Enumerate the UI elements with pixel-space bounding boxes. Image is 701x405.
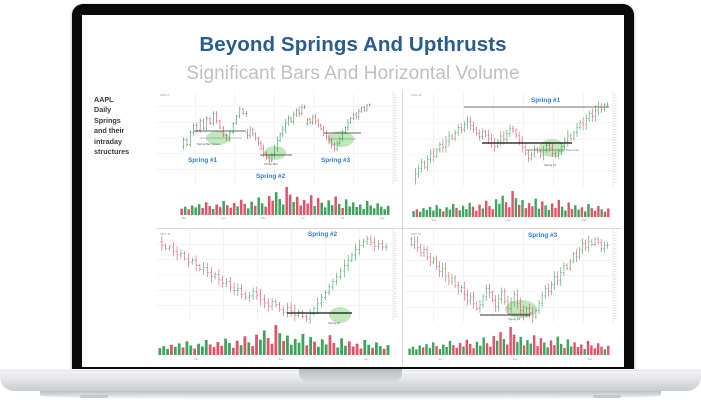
spring-label-3: Spring #3 <box>321 157 350 164</box>
sidenote-line: Springs <box>94 116 152 126</box>
spring-label-2: Spring #2 <box>256 173 285 180</box>
annotation-spring: Spring #3 <box>508 317 520 321</box>
base-shadow <box>40 391 661 400</box>
chart-panel-top-right[interactable]: MarAprMay AAPL:15 Spring #1 Test / Low S… <box>404 91 622 227</box>
svg-text:Apr: Apr <box>507 218 511 222</box>
sidenote-line: and their <box>94 126 152 136</box>
presentation-slide: Beyond Springs And Upthrusts Significant… <box>82 15 624 367</box>
base-foot-right <box>593 395 621 398</box>
svg-text:May: May <box>582 218 588 222</box>
sidenote-text: AAPL Daily Springs and their intraday st… <box>94 95 152 157</box>
laptop-screen: Beyond Springs And Upthrusts Significant… <box>82 15 624 367</box>
svg-text:Aug: Aug <box>380 216 385 220</box>
spring-label-1: Spring #1 <box>531 97 560 104</box>
chart-panel-bottom-right[interactable]: JulAugSep AAPL:15 Spring #3 Spring #3 <box>404 229 622 365</box>
ticker-tag: AAPL:15 <box>160 233 170 236</box>
svg-text:Mar: Mar <box>182 216 187 220</box>
svg-text:May: May <box>194 357 200 361</box>
laptop-base <box>0 369 701 405</box>
annotation-spring: Spring #1 <box>544 163 556 167</box>
page-subtitle: Significant Bars And Horizontal Volume <box>82 63 624 85</box>
spring-label-3: Spring #3 <box>528 232 557 239</box>
svg-text:Jun: Jun <box>279 357 284 361</box>
candlestick-chart-bottom-right: JulAugSep <box>404 229 622 365</box>
laptop-lid: Beyond Springs And Upthrusts Significant… <box>72 4 634 373</box>
svg-text:Apr: Apr <box>222 216 226 220</box>
panel-divider-horizontal <box>156 228 622 229</box>
chart-panel-top-left[interactable]: MarAprMayJunJulAug AAPL:D Spring #1 Spri… <box>156 91 402 227</box>
annotation-test-low: Test / Low <box>566 148 579 152</box>
candlestick-chart-top-right: MarAprMay <box>404 91 622 227</box>
ticker-tag: AAPL:D <box>160 94 169 97</box>
sidenote-line: AAPL <box>94 95 152 105</box>
spring-label-1: Spring #1 <box>188 157 217 164</box>
chart-panel-bottom-left[interactable]: MayJunJul AAPL:15 Spring #2 Spring #2 <box>156 229 402 365</box>
page-title: Beyond Springs And Upthrusts <box>82 33 624 57</box>
ticker-tag: AAPL:15 <box>411 233 421 236</box>
chart-grid: MarAprMayJunJulAug AAPL:D Spring #1 Spri… <box>156 91 622 365</box>
base-foot-left <box>80 395 108 398</box>
sidenote-line: Daily <box>94 105 152 115</box>
svg-text:Jul: Jul <box>438 357 442 361</box>
candlestick-chart-bottom-left: MayJunJul <box>156 229 402 365</box>
svg-text:Jul: Jul <box>364 357 368 361</box>
annotation-spring-volume: Spring Bar Volume <box>197 142 220 146</box>
svg-text:Sep: Sep <box>588 357 593 361</box>
svg-text:Jun: Jun <box>301 216 306 220</box>
annotation-spring: Spring #2 <box>328 321 340 325</box>
trackpad-notch <box>299 369 402 382</box>
sidenote-line: structures <box>94 147 152 157</box>
annotation-climax-bar: Climax Bar <box>264 162 278 166</box>
sidenote-line: intraday <box>94 137 152 147</box>
svg-text:Aug: Aug <box>513 357 518 361</box>
ticker-tag: AAPL:15 <box>411 94 421 97</box>
spring-label-2: Spring #2 <box>308 231 337 238</box>
base-strip <box>0 369 701 391</box>
laptop-mockup: Beyond Springs And Upthrusts Significant… <box>0 0 701 405</box>
svg-text:Jul: Jul <box>341 216 345 220</box>
svg-text:Mar: Mar <box>432 218 437 222</box>
svg-text:May: May <box>261 216 267 220</box>
